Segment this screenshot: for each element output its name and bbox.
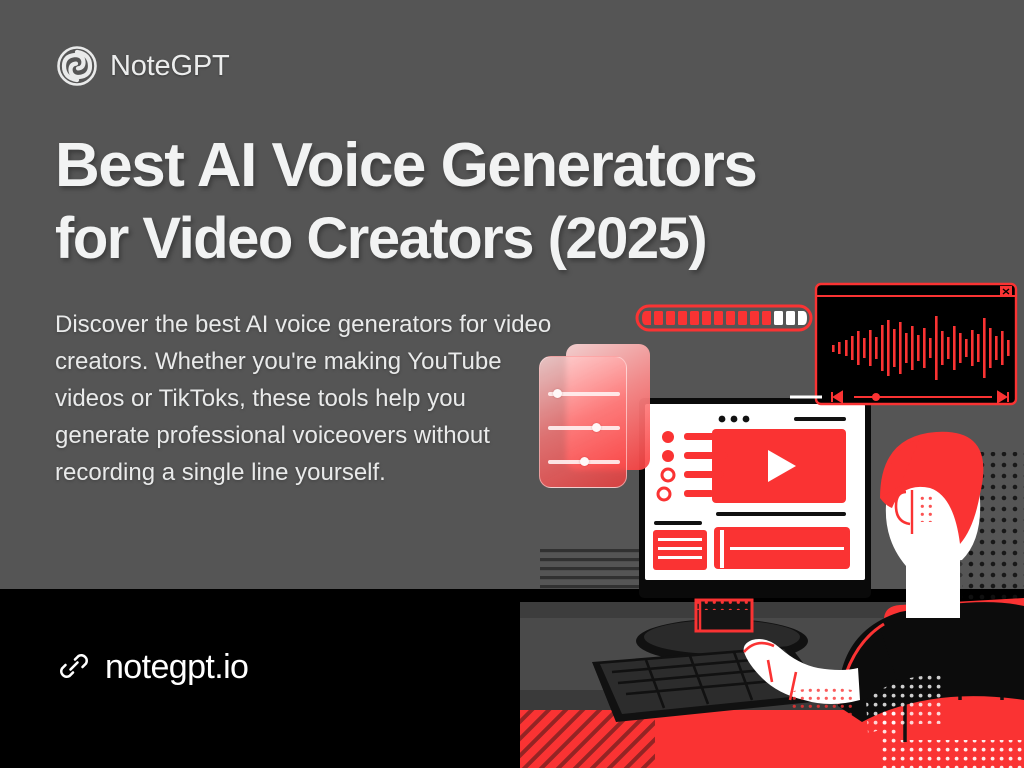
blog-cover-canvas: NoteGPT Best AI Voice Generators for Vid…	[0, 0, 1024, 768]
brand-header[interactable]: NoteGPT	[57, 46, 229, 86]
footer-domain[interactable]: notegpt.io	[57, 650, 248, 684]
brand-name: NoteGPT	[110, 52, 229, 81]
mixer-slider-knob[interactable]	[580, 457, 589, 466]
chain-link-icon	[57, 650, 91, 684]
page-description: Discover the best AI voice generators fo…	[55, 306, 560, 491]
mixer-slider-knob[interactable]	[592, 423, 601, 432]
background-gray-panel	[0, 0, 1024, 589]
footer-domain-label: notegpt.io	[105, 650, 248, 684]
spiral-swirl-icon	[57, 46, 97, 86]
